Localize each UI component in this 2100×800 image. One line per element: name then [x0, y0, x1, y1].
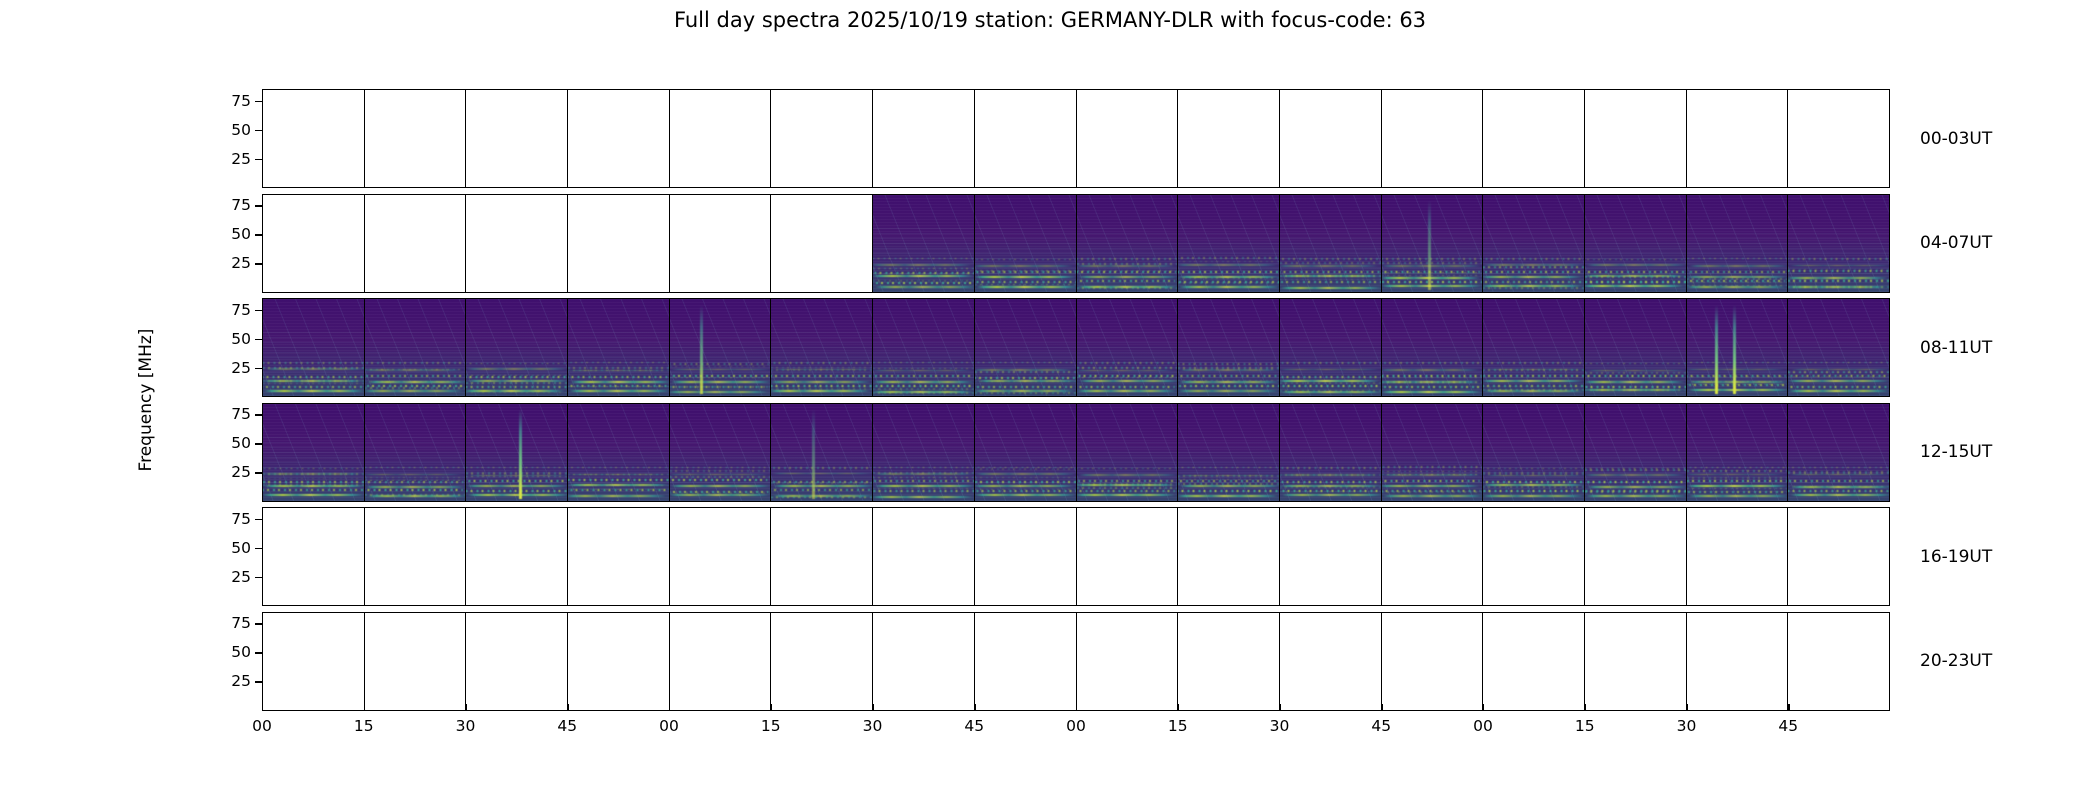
spectrogram-panel[interactable]	[568, 404, 670, 501]
spectrogram-panel[interactable]	[1687, 508, 1789, 605]
spectrogram-image	[975, 195, 1076, 292]
spectrogram-panel[interactable]	[771, 195, 873, 292]
emission-band	[263, 478, 364, 480]
panel-strip	[263, 508, 1889, 605]
emission-band	[1178, 282, 1279, 284]
y-tick-label: 25	[231, 150, 251, 168]
spectrogram-panel[interactable]	[975, 613, 1077, 710]
emission-band	[873, 490, 974, 492]
spectrogram-image	[1788, 299, 1889, 396]
emission-band	[771, 375, 871, 377]
row-label-16-19ut: 16-19UT	[1920, 547, 1992, 567]
spectrogram-panel[interactable]	[1280, 195, 1382, 292]
emission-band	[975, 477, 1076, 479]
emission-band	[1178, 375, 1276, 377]
emission-band	[1687, 258, 1788, 260]
emission-band	[1483, 473, 1584, 475]
emission-band	[1687, 491, 1788, 493]
row-label-08-11ut: 08-11UT	[1920, 338, 1992, 358]
x-tick-label: 00	[1066, 717, 1086, 735]
emission-band	[467, 485, 568, 487]
spectrogram-image	[568, 404, 669, 501]
spectrogram-panel[interactable]	[1382, 299, 1484, 396]
spectrogram-panel[interactable]	[1280, 299, 1382, 396]
emission-band	[875, 375, 975, 377]
emission-band	[1585, 375, 1683, 377]
spectrogram-panel[interactable]	[1178, 613, 1280, 710]
emission-band	[975, 473, 1075, 475]
emission-band	[1585, 381, 1684, 383]
spectrogram-panel[interactable]	[1077, 508, 1179, 605]
x-tick-label: 30	[456, 717, 476, 735]
spectrogram-image	[1687, 299, 1788, 396]
spectrogram-panel[interactable]	[568, 90, 670, 187]
x-tick	[567, 704, 568, 710]
spectrogram-panel[interactable]	[670, 404, 772, 501]
emission-band	[1281, 481, 1381, 483]
y-tick-label: 50	[231, 434, 251, 452]
spectrogram-ripple-layer	[568, 328, 669, 382]
emission-band	[263, 473, 364, 475]
spectrogram-panel[interactable]	[1077, 195, 1179, 292]
spectrogram-panel[interactable]	[1687, 299, 1789, 396]
emission-band	[873, 381, 973, 383]
spectrogram-panel[interactable]	[1788, 195, 1889, 292]
emission-band	[365, 387, 466, 389]
spectrogram-image	[365, 299, 466, 396]
emission-band	[975, 489, 1076, 491]
spectrogram-panel[interactable]	[975, 508, 1077, 605]
spectrogram-panel[interactable]	[1483, 508, 1585, 605]
emission-band	[1788, 270, 1888, 272]
emission-band	[263, 386, 362, 388]
x-tick-label: 30	[1677, 717, 1697, 735]
emission-band	[568, 467, 667, 469]
emission-band	[571, 381, 670, 383]
spectrogram-panel[interactable]	[1077, 90, 1179, 187]
y-tick-label: 50	[231, 330, 251, 348]
spectrogram-panel[interactable]	[263, 613, 365, 710]
x-tick	[364, 704, 365, 710]
spectrogram-panel[interactable]	[263, 404, 365, 501]
emission-band	[1788, 471, 1889, 473]
row-frame	[262, 403, 1890, 502]
spectrogram-image	[1280, 195, 1381, 292]
spectrogram-ripple-layer	[1280, 328, 1381, 382]
emission-band	[365, 381, 466, 383]
emission-band	[263, 383, 364, 385]
spectrogram-image	[1178, 195, 1279, 292]
emission-band	[466, 392, 567, 394]
emission-band	[1483, 495, 1583, 497]
emission-band	[873, 268, 974, 270]
spectrogram-panel[interactable]	[1687, 613, 1789, 710]
spectrogram-panel[interactable]	[1382, 613, 1484, 710]
emission-band	[773, 473, 873, 475]
emission-band	[975, 485, 1074, 487]
spectrogram-panel[interactable]	[975, 195, 1077, 292]
spectrogram-image	[1483, 404, 1584, 501]
y-tick	[255, 263, 262, 264]
emission-band	[670, 366, 771, 368]
emission-band	[365, 467, 465, 469]
spectrogram-panel[interactable]	[873, 404, 975, 501]
spectrogram-panel[interactable]	[263, 299, 365, 396]
emission-band	[1789, 480, 1889, 482]
spectrogram-panel[interactable]	[1788, 299, 1889, 396]
spectrogram-panel[interactable]	[1280, 404, 1382, 501]
emission-band	[1382, 471, 1483, 473]
emission-band	[1077, 270, 1178, 272]
emission-band	[1281, 362, 1381, 364]
spectrogram-ripple-layer	[771, 433, 872, 487]
emission-band	[365, 474, 463, 476]
spectrogram-panel[interactable]	[873, 90, 975, 187]
spectrogram-panel[interactable]	[1178, 299, 1280, 396]
spectrogram-panel[interactable]	[1788, 404, 1889, 501]
spectrogram-image	[568, 299, 669, 396]
y-tick	[255, 577, 262, 578]
emission-band	[568, 489, 669, 491]
spectrogram-panel[interactable]	[1178, 90, 1280, 187]
emission-band	[1788, 376, 1889, 378]
emission-band	[1280, 474, 1381, 476]
spectrogram-panel[interactable]	[1077, 299, 1179, 396]
emission-band	[1585, 386, 1686, 388]
y-tick-label: 75	[231, 614, 251, 632]
emission-band	[1180, 485, 1280, 487]
spectrogram-panel[interactable]	[466, 613, 568, 710]
emission-band	[1483, 267, 1584, 269]
spectrogram-image	[670, 404, 771, 501]
y-tick	[255, 130, 262, 131]
y-tick-label: 25	[231, 254, 251, 272]
emission-band	[263, 484, 364, 486]
spectrogram-panel[interactable]	[365, 404, 467, 501]
emission-band	[975, 284, 1076, 286]
y-tick	[255, 472, 262, 473]
emission-band	[1077, 265, 1176, 267]
emission-band	[874, 467, 975, 469]
spectrogram-panel[interactable]	[1483, 90, 1585, 187]
emission-band	[568, 376, 667, 378]
spectrogram-panel[interactable]	[873, 299, 975, 396]
emission-band	[1687, 474, 1785, 476]
y-tick-label: 75	[231, 92, 251, 110]
x-tick-label: 15	[1168, 717, 1188, 735]
spectrogram-image	[1585, 404, 1686, 501]
spectrogram-image	[1585, 195, 1686, 292]
emission-band	[771, 385, 871, 387]
emission-band	[366, 375, 467, 377]
burst-spike	[1715, 305, 1718, 394]
spectrogram-panel[interactable]	[975, 404, 1077, 501]
spectrogram-image	[1077, 404, 1178, 501]
emission-band	[873, 477, 974, 479]
emission-band	[1585, 285, 1683, 287]
emission-band	[1280, 271, 1379, 273]
spectrogram-panel[interactable]	[1382, 195, 1484, 292]
axes-stack: 255075255075255075255075255075255075	[262, 89, 1890, 710]
spectrogram-panel[interactable]	[1077, 404, 1179, 501]
spectrogram-panel[interactable]	[771, 508, 873, 605]
emission-band	[1382, 272, 1483, 274]
y-tick	[255, 101, 262, 102]
spectrogram-panel[interactable]	[1788, 613, 1889, 710]
emission-band	[1587, 486, 1687, 488]
emission-band	[1688, 389, 1788, 391]
spectrogram-panel[interactable]	[1178, 404, 1280, 501]
spectrogram-panel[interactable]	[466, 404, 568, 501]
spectrogram-panel[interactable]	[975, 90, 1077, 187]
spectrogram-panel[interactable]	[873, 508, 975, 605]
x-tick	[1585, 704, 1586, 710]
spectrogram-image	[1178, 299, 1279, 396]
spectrogram-panel[interactable]	[873, 195, 975, 292]
spectrogram-panel[interactable]	[975, 299, 1077, 396]
spectrogram-panel[interactable]	[466, 195, 568, 292]
emission-band	[570, 362, 670, 364]
spectrogram-panel[interactable]	[670, 90, 772, 187]
spectrogram-ripple-layer	[1788, 328, 1889, 382]
emission-band	[466, 363, 565, 365]
spectrogram-panel[interactable]	[670, 508, 772, 605]
spectrogram-ripple-layer	[1788, 433, 1889, 487]
emission-band	[975, 270, 1076, 272]
emission-band	[263, 494, 363, 496]
spectrogram-panel[interactable]	[1483, 404, 1585, 501]
emission-band	[1585, 469, 1686, 471]
emission-band	[1281, 376, 1381, 378]
spectrogram-panel[interactable]	[1687, 404, 1789, 501]
emission-band	[263, 481, 364, 483]
spectrogram-panel[interactable]	[1585, 404, 1687, 501]
emission-band	[670, 391, 769, 393]
spectrogram-panel[interactable]	[365, 613, 467, 710]
emission-band	[1585, 271, 1684, 273]
emission-band	[1789, 390, 1889, 392]
x-tick	[262, 704, 263, 710]
emission-band	[1280, 369, 1379, 371]
emission-band	[771, 496, 872, 498]
spectrogram-panel[interactable]	[1382, 404, 1484, 501]
spectrogram-panel[interactable]	[1178, 195, 1280, 292]
emission-band	[1178, 490, 1277, 492]
emission-band	[1788, 371, 1889, 373]
spectrogram-panel[interactable]	[771, 90, 873, 187]
spectrogram-panel[interactable]	[1483, 195, 1585, 292]
spectrogram-ripple-layer	[873, 328, 974, 382]
emission-band	[975, 468, 1076, 470]
spectrogram-panel[interactable]	[771, 404, 873, 501]
spectrogram-panel[interactable]	[263, 508, 365, 605]
emission-band	[1687, 470, 1788, 472]
emission-band	[568, 485, 669, 487]
emission-band	[1178, 277, 1279, 279]
emission-band	[1178, 467, 1277, 469]
emission-band	[771, 381, 870, 383]
emission-band	[1280, 262, 1381, 264]
spectrogram-panel[interactable]	[1280, 508, 1382, 605]
spectrogram-panel[interactable]	[1687, 195, 1789, 292]
spectrogram-image	[670, 299, 771, 396]
emission-band	[1483, 276, 1582, 278]
spectrogram-panel[interactable]	[263, 90, 365, 187]
spectrogram-panel[interactable]	[771, 613, 873, 710]
y-tick	[255, 443, 262, 444]
figure-title: Full day spectra 2025/10/19 station: GER…	[0, 8, 2100, 32]
emission-band	[670, 386, 771, 388]
emission-band	[1077, 370, 1175, 372]
spectrogram-panel[interactable]	[1788, 508, 1889, 605]
spectrogram-panel[interactable]	[568, 508, 670, 605]
panel-strip	[263, 90, 1889, 187]
emission-band	[1483, 375, 1584, 377]
spectrogram-panel[interactable]	[263, 195, 365, 292]
emission-band	[670, 377, 771, 379]
spectrogram-panel[interactable]	[466, 90, 568, 187]
emission-band	[873, 388, 974, 390]
emission-band	[873, 488, 974, 490]
spectra-row-04-07ut: 255075	[262, 194, 1890, 293]
emission-band	[1280, 265, 1378, 267]
emission-band	[975, 276, 1075, 278]
emission-band	[1383, 495, 1483, 497]
y-tick-label: 25	[231, 672, 251, 690]
emission-band	[975, 371, 1076, 373]
emission-band	[975, 272, 1076, 274]
spectrogram-ripple-layer	[263, 328, 364, 382]
spectrogram-panel[interactable]	[1382, 508, 1484, 605]
emission-band	[670, 492, 771, 494]
spectrogram-panel[interactable]	[1687, 90, 1789, 187]
spectrogram-panel[interactable]	[771, 299, 873, 396]
emission-band	[1178, 380, 1279, 382]
emission-band	[1282, 385, 1381, 387]
emission-band	[1077, 271, 1177, 273]
emission-band	[873, 496, 972, 498]
emission-band	[670, 476, 771, 478]
spectrogram-panel[interactable]	[873, 613, 975, 710]
emission-band	[1178, 261, 1279, 263]
emission-band	[1790, 474, 1889, 476]
spectrogram-panel[interactable]	[1483, 613, 1585, 710]
emission-band	[365, 477, 466, 479]
spectrogram-panel[interactable]	[466, 508, 568, 605]
emission-band	[1282, 494, 1382, 496]
emission-band	[1687, 286, 1787, 288]
emission-band	[568, 386, 669, 388]
spectrogram-image	[1077, 299, 1178, 396]
emission-band	[1788, 490, 1888, 492]
spectrogram-panel[interactable]	[670, 195, 772, 292]
emission-band	[773, 467, 873, 469]
spectrogram-image	[873, 404, 974, 501]
spectrogram-panel[interactable]	[568, 195, 670, 292]
y-tick	[255, 159, 262, 160]
spectrogram-panel[interactable]	[1077, 613, 1179, 710]
emission-band	[876, 385, 975, 387]
y-tick	[255, 548, 262, 549]
emission-band	[1788, 286, 1889, 288]
spectrogram-panel[interactable]	[568, 613, 670, 710]
emission-band	[1486, 362, 1585, 364]
spectrogram-ripple-layer	[975, 328, 1076, 382]
spectrogram-panel[interactable]	[1280, 613, 1382, 710]
spectrogram-panel[interactable]	[1585, 613, 1687, 710]
emission-band	[975, 392, 1076, 394]
spectrogram-panel[interactable]	[670, 299, 772, 396]
row-frame	[262, 612, 1890, 711]
spectrogram-panel[interactable]	[670, 613, 772, 710]
emission-band	[670, 474, 769, 476]
emission-band	[1077, 263, 1178, 265]
x-tick-label: 30	[863, 717, 883, 735]
spectrogram-ripple-layer	[1382, 224, 1483, 278]
emission-band	[1178, 480, 1276, 482]
emission-band	[976, 281, 1076, 283]
spectrogram-panel[interactable]	[365, 195, 467, 292]
emission-band	[873, 370, 973, 372]
spectrogram-panel[interactable]	[1788, 90, 1889, 187]
spectrogram-panel[interactable]	[1585, 299, 1687, 396]
emission-band	[1280, 258, 1378, 260]
emission-band	[977, 362, 1076, 364]
emission-band	[1077, 367, 1178, 369]
emission-band	[1688, 495, 1788, 497]
spectrogram-panel[interactable]	[365, 299, 467, 396]
emission-band	[1788, 386, 1886, 388]
emission-band	[1788, 380, 1889, 382]
emission-band	[1585, 372, 1686, 374]
emission-band	[875, 286, 975, 288]
spectrogram-panel[interactable]	[1178, 508, 1280, 605]
spectrogram-panel[interactable]	[1483, 299, 1585, 396]
x-tick	[669, 704, 670, 710]
emission-band	[1687, 381, 1788, 383]
spectrogram-panel[interactable]	[1585, 90, 1687, 187]
spectrogram-panel[interactable]	[568, 299, 670, 396]
emission-band	[771, 369, 872, 371]
emission-band	[1483, 481, 1582, 483]
x-tick-label: 45	[1778, 717, 1798, 735]
spectrogram-panel[interactable]	[1280, 90, 1382, 187]
emission-band	[1689, 265, 1789, 267]
emission-band	[467, 368, 568, 370]
panel-strip	[263, 299, 1889, 396]
y-tick-label: 75	[231, 196, 251, 214]
emission-band	[670, 479, 768, 481]
spectrogram-panel[interactable]	[1382, 90, 1484, 187]
emission-band	[1077, 485, 1178, 487]
row-frame	[262, 507, 1890, 606]
emission-band	[975, 377, 1074, 379]
emission-band	[264, 390, 365, 392]
spectrogram-panel[interactable]	[1585, 508, 1687, 605]
row-label-12-15ut: 12-15UT	[1920, 442, 1992, 462]
x-tick	[974, 704, 975, 710]
emission-band	[1178, 257, 1277, 259]
emission-band	[1077, 386, 1175, 388]
spectrogram-image	[873, 195, 974, 292]
spectrogram-panel[interactable]	[365, 508, 467, 605]
x-tick-label: 30	[1270, 717, 1290, 735]
spectrogram-panel[interactable]	[1585, 195, 1687, 292]
spectrogram-panel[interactable]	[365, 90, 467, 187]
emission-band	[1178, 475, 1279, 477]
emission-band	[466, 382, 567, 384]
spectrogram-panel[interactable]	[466, 299, 568, 396]
